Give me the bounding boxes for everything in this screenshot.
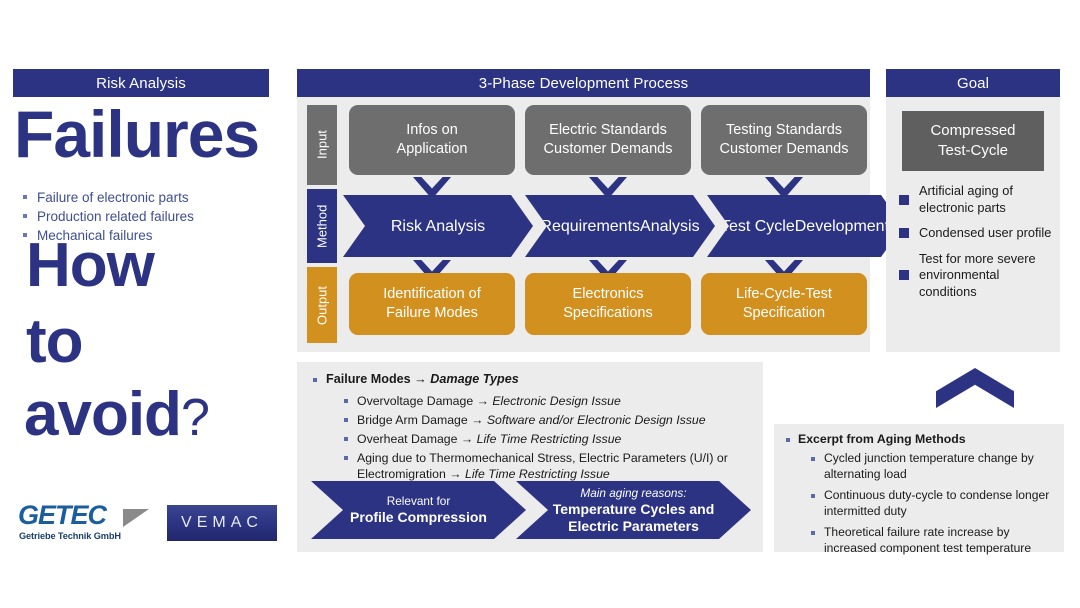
method-arrow-3-line2: Development [795,218,889,235]
aging-methods-panel: Excerpt from Aging Methods Cycled juncti… [774,424,1064,552]
output-card-1[interactable]: Identification of Failure Modes [349,273,515,335]
list-item: Bridge Arm Damage → Software and/or Elec… [343,412,753,428]
failure-modes-title-plain: Failure Modes → [326,372,430,386]
list-item: Overvoltage Damage → Electronic Design I… [343,393,753,409]
vemac-logo-wordmark: VEMAC [181,514,263,532]
risk-analysis-header: Risk Analysis [13,69,269,97]
list-item: Overheat Damage → Life Time Restricting … [343,431,753,447]
lane-label-output: Output [307,267,337,343]
list-item: Theoretical failure rate increase by inc… [810,525,1058,556]
slide-canvas: Risk Analysis Failures Failure of electr… [0,0,1080,608]
output-card-2-line2: Specifications [563,304,652,323]
process-header: 3-Phase Development Process [297,69,870,97]
item-plain: Bridge Arm Damage → [357,413,487,427]
output-card-1-line2: Failure Modes [386,304,478,323]
headline-to: to [26,313,83,370]
input-card-2-line2: Customer Demands [544,140,673,159]
headline-avoid: avoid? [24,386,209,443]
failure-modes-arrow-group: Relevant for Profile Compression Main ag… [311,481,751,539]
aging-methods-title: Excerpt from Aging Methods [786,432,966,446]
input-card-2-line1: Electric Standards [549,121,667,140]
bottom-arrow-1[interactable]: Relevant for Profile Compression [311,481,526,539]
input-card-1-line1: Infos on [406,121,458,140]
goal-bullet-list: Artificial aging of electronic parts Con… [896,183,1056,309]
input-card-2[interactable]: Electric Standards Customer Demands [525,105,691,175]
risk-analysis-column: Risk Analysis Failures Failure of electr… [0,0,290,608]
output-card-1-line1: Identification of [383,285,481,304]
failure-modes-list: Overvoltage Damage → Electronic Design I… [343,393,753,485]
goal-card-line1: Compressed [930,121,1015,141]
list-item: Production related failures [22,207,272,226]
list-item: Aging due to Thermomechanical Stress, El… [343,450,753,482]
headline-failures: Failures [14,104,259,165]
method-arrow-3-line1: Test Cycle [721,218,795,235]
headline-question-mark: ? [181,389,209,447]
output-card-3-line1: Life-Cycle-Test [736,285,832,304]
input-card-3-line1: Testing Standards [726,121,842,140]
list-item: Failure of electronic parts [22,188,272,207]
list-item: Artificial aging of electronic parts [896,183,1056,216]
method-arrow-3[interactable]: Test Cycle Development [707,195,903,257]
item-italic: Life Time Restricting Issue [477,432,622,446]
input-card-1-line2: Application [397,140,468,159]
item-plain: Overheat Damage → [357,432,477,446]
bottom-arrow-2-main-line2: Electric Parameters [568,518,699,535]
item-italic: Software and/or Electronic Design Issue [487,413,706,427]
method-arrow-1-line1: Risk Analysis [391,216,485,237]
headline-avoid-text: avoid [24,380,181,449]
method-arrow-2-line1: Requirements [540,218,640,235]
input-card-3[interactable]: Testing Standards Customer Demands [701,105,867,175]
list-item: Test for more severe environmental condi… [896,251,1056,301]
item-italic: Life Time Restricting Issue [465,467,610,481]
failure-modes-panel: Failure Modes → Damage Types Overvoltage… [297,362,763,552]
bottom-arrow-1-main: Profile Compression [350,509,487,526]
item-italic: Electronic Design Issue [492,394,621,408]
goal-card[interactable]: Compressed Test-Cycle [902,111,1044,171]
failure-modes-title-italic: Damage Types [430,372,518,386]
headline-how: How [26,237,154,294]
bottom-arrow-2-main-line1: Temperature Cycles and [553,501,715,518]
getec-triangle-icon [123,509,149,527]
method-arrow-2[interactable]: Requirements Analysis [525,195,715,257]
input-card-3-line2: Customer Demands [720,140,849,159]
input-card-1[interactable]: Infos on Application [349,105,515,175]
bottom-arrow-2-top: Main aging reasons: [580,486,686,501]
process-panel: Input Method Output Infos on Application… [297,97,870,352]
getec-logo-wordmark: GETEC [18,500,106,531]
output-card-3[interactable]: Life-Cycle-Test Specification [701,273,867,335]
output-card-2[interactable]: Electronics Specifications [525,273,691,335]
method-arrow-1[interactable]: Risk Analysis [343,195,533,257]
getec-logo: GETEC Getriebe Technik GmbH [18,500,148,546]
goal-panel: Compressed Test-Cycle Artificial aging o… [886,97,1060,352]
list-item: Cycled junction temperature change by al… [810,451,1058,482]
bottom-arrow-1-top: Relevant for [387,494,451,509]
item-plain: Overvoltage Damage → [357,394,492,408]
method-arrow-2-line2: Analysis [640,218,700,235]
list-item: Continuous duty-cycle to condense longer… [810,488,1058,519]
lane-label-input: Input [307,105,337,185]
lane-label-method: Method [307,189,337,263]
bottom-arrow-2[interactable]: Main aging reasons: Temperature Cycles a… [516,481,751,539]
aging-methods-list: Cycled junction temperature change by al… [810,451,1058,562]
goal-card-line2: Test-Cycle [938,141,1008,161]
goal-header: Goal [886,69,1060,97]
list-item: Condensed user profile [896,225,1056,242]
output-card-3-line2: Specification [743,304,825,323]
chevron-up-icon [936,368,1014,408]
output-card-2-line1: Electronics [573,285,644,304]
vemac-logo: VEMAC [167,505,277,541]
getec-logo-tagline: Getriebe Technik GmbH [19,531,121,541]
failure-modes-title: Failure Modes → Damage Types [313,372,519,386]
